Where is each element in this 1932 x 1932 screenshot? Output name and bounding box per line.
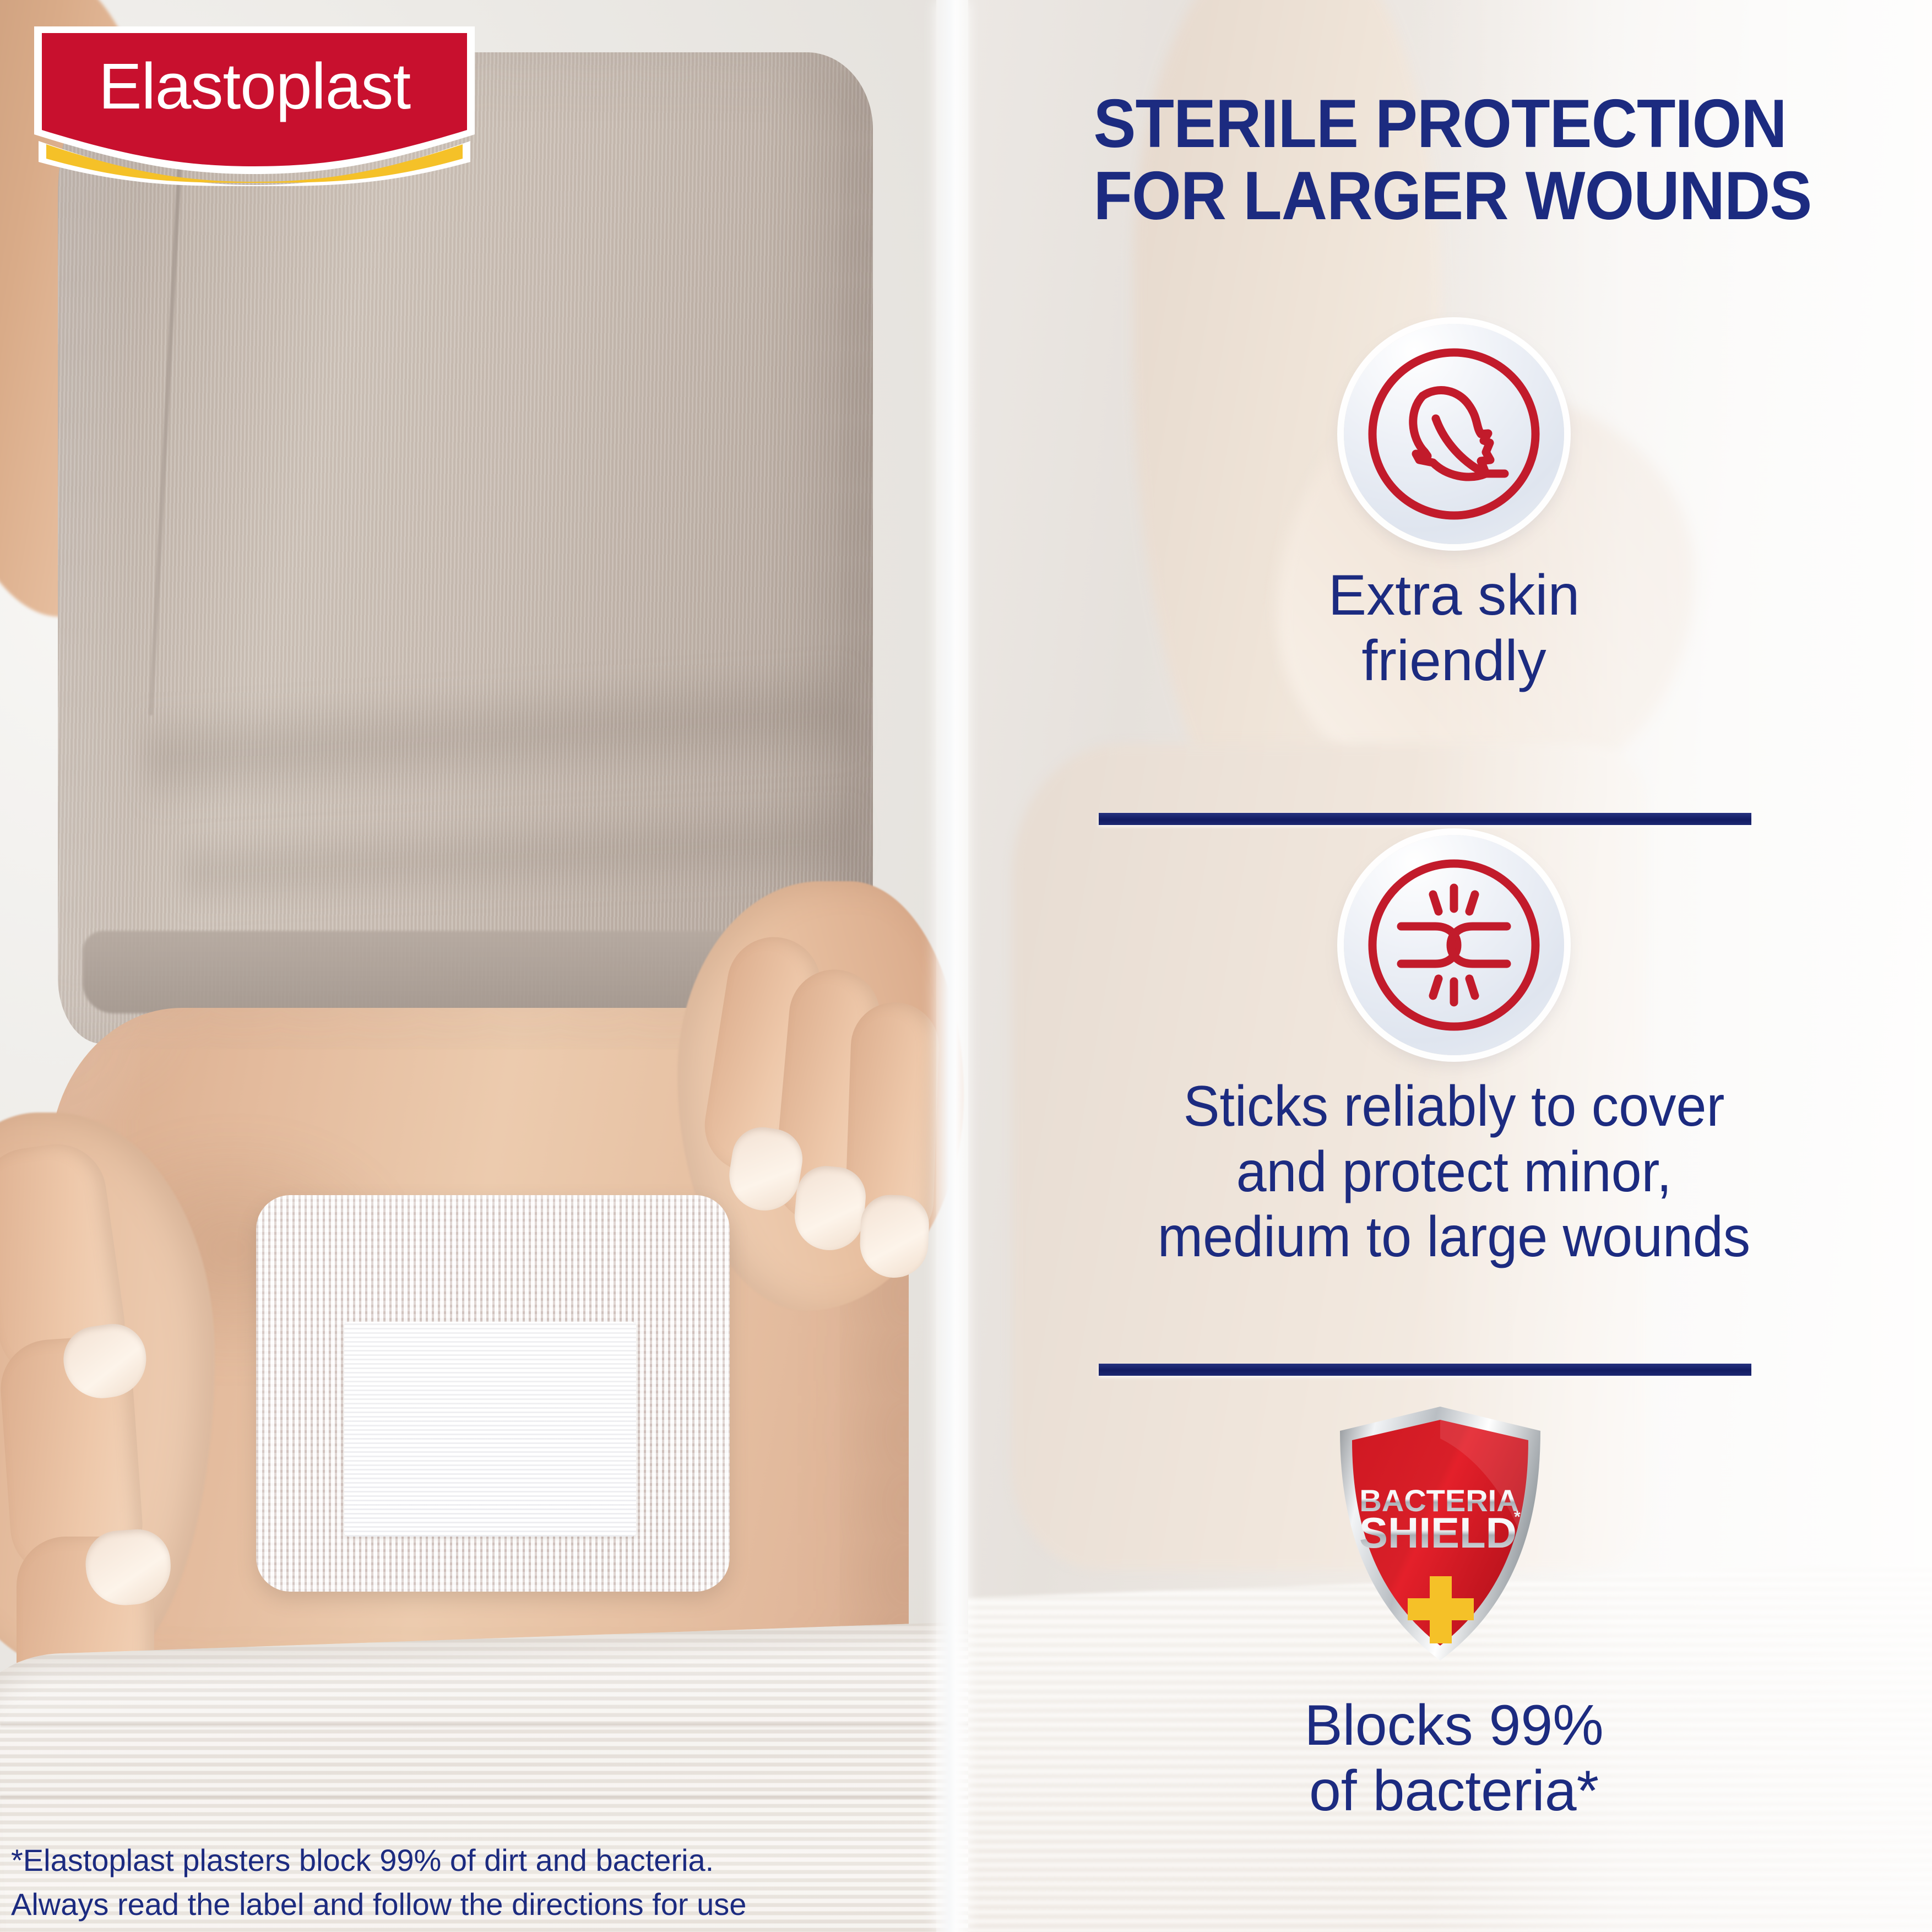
feature-divider-2 — [1099, 1364, 1751, 1376]
logo-wordmark: Elastoplast — [34, 26, 475, 146]
feature-divider-1 — [1099, 813, 1751, 825]
waistband-seam — [0, 1724, 968, 1727]
chain-link-sparks-icon — [1344, 835, 1564, 1055]
feature-blocks-bacteria: Blocks 99% of bacteria* — [1041, 1674, 1867, 1824]
feature-caption: Blocks 99% of bacteria* — [1041, 1693, 1867, 1824]
chain-icon-art — [1344, 835, 1564, 1055]
bacteria-shield-badge: BACTERIA SHIELD * — [1336, 1405, 1545, 1662]
footnote: *Elastoplast plasters block 99% of dirt … — [11, 1838, 793, 1926]
caption-line: Blocks 99% — [1041, 1693, 1867, 1759]
headline-line-1: STERILE PROTECTION — [1094, 88, 1760, 160]
wound-pad — [344, 1322, 636, 1537]
caption-line: medium to large wounds — [1062, 1204, 1847, 1270]
feature-skin-friendly: Extra skin friendly — [1041, 324, 1867, 693]
caption-line: and protect minor, — [1062, 1139, 1847, 1205]
shield-icon-art: BACTERIA SHIELD * — [1336, 1405, 1545, 1662]
shield-line-2: SHIELD — [1359, 1508, 1517, 1557]
caption-line: of bacteria* — [1041, 1759, 1867, 1824]
footnote-line-2: Always read the label and follow the dir… — [11, 1882, 793, 1926]
caption-line: Extra skin — [1041, 563, 1867, 628]
footnote-line-1: *Elastoplast plasters block 99% of dirt … — [11, 1838, 793, 1882]
headline-line-2: FOR LARGER WOUNDS — [1094, 160, 1760, 232]
caption-line: Sticks reliably to cover — [1062, 1074, 1847, 1139]
page-title: STERILE PROTECTION FOR LARGER WOUNDS — [1094, 88, 1760, 233]
product-marketing-banner: Elastoplast STERILE PROTECTION FOR LARGE… — [0, 0, 1932, 1932]
feather-icon-art — [1344, 324, 1564, 544]
fingernail — [859, 1194, 930, 1279]
vertical-divider — [936, 0, 968, 1932]
caption-line: friendly — [1041, 628, 1867, 694]
feature-caption: Sticks reliably to cover and protect min… — [1062, 1074, 1847, 1270]
shield-asterisk: * — [1514, 1508, 1521, 1526]
feather-in-circle-icon — [1344, 324, 1564, 544]
product-photo-left — [0, 0, 968, 1932]
feature-sticks-reliably: Sticks reliably to cover and protect min… — [1041, 835, 1867, 1270]
brand-logo[interactable]: Elastoplast — [34, 26, 475, 186]
waistband-seam — [0, 1795, 968, 1798]
feature-caption: Extra skin friendly — [1041, 563, 1867, 693]
